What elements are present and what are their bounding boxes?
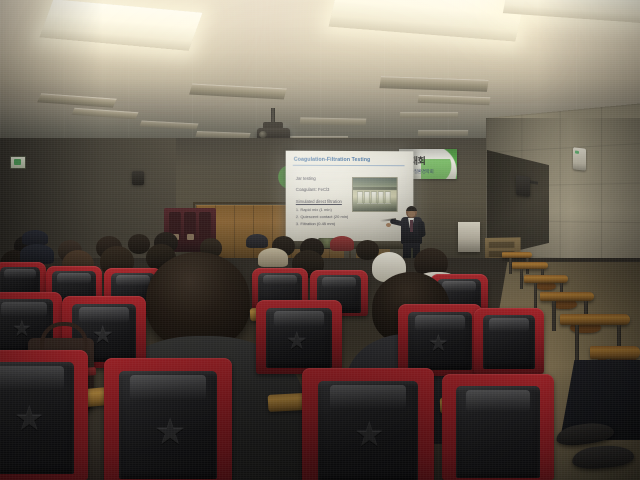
podium [458,222,480,252]
audience-head-with-cap [246,234,268,248]
foreground-audience-head [146,252,250,348]
exit-sign-icon [10,156,26,169]
auditorium-seat[interactable]: ★ [398,304,482,376]
projector-lens [259,131,267,138]
tablet-arm-desk [560,314,630,325]
ceiling-fixture-unlit [400,112,458,118]
star-icon: ★ [354,418,384,452]
auditorium-seat[interactable]: ★ [0,350,88,480]
presenter-hand [386,223,391,227]
tablet-arm-desk [512,262,548,269]
auditorium-seat[interactable]: ★ [104,358,232,480]
auditorium-seat[interactable] [474,308,544,374]
auditorium-seat[interactable]: ★ [256,300,342,374]
slide-title: Coagulation-Filtration Testing [294,157,371,163]
tablet-arm-desk [590,346,640,359]
ceiling-fixture-unlit [300,117,367,125]
wall-speaker-icon [516,175,530,197]
lecture-hall-photo: 술대회 한국수질환경학회 Coagulation-Filtration Test… [0,0,640,480]
tablet-arm-desk [540,292,594,301]
audience-head-with-cap [20,244,54,264]
slide-step-2: 2. Quiescent contact (20 min) [296,214,348,219]
audience-head-with-cap [330,236,354,251]
tablet-arm-desk [502,252,532,258]
star-icon: ★ [154,414,186,450]
slide-step-1: 1. Rapid mix (1 min) [296,207,332,212]
ceiling-fixture-unlit [418,130,468,136]
audience-head-with-cap [258,248,288,267]
slide-photo-jar-test [352,177,398,212]
slide-line-3: Simulated direct filtration [296,199,342,204]
slide-step-3: 3. Filtration (0.45 mm) [296,221,335,226]
auditorium-seat[interactable]: ★ [302,368,434,480]
tablet-arm-desk [524,275,568,283]
auditorium-seat[interactable] [442,374,554,480]
slide-line-1: Jar testing [296,176,316,181]
slide-title-rule [293,165,405,166]
wall-speaker-icon [132,171,144,185]
slide-line-2: Coagulant: FeCl3 [296,187,330,192]
wall-unit-icon [573,147,586,171]
audience-head-with-cap [22,230,48,245]
